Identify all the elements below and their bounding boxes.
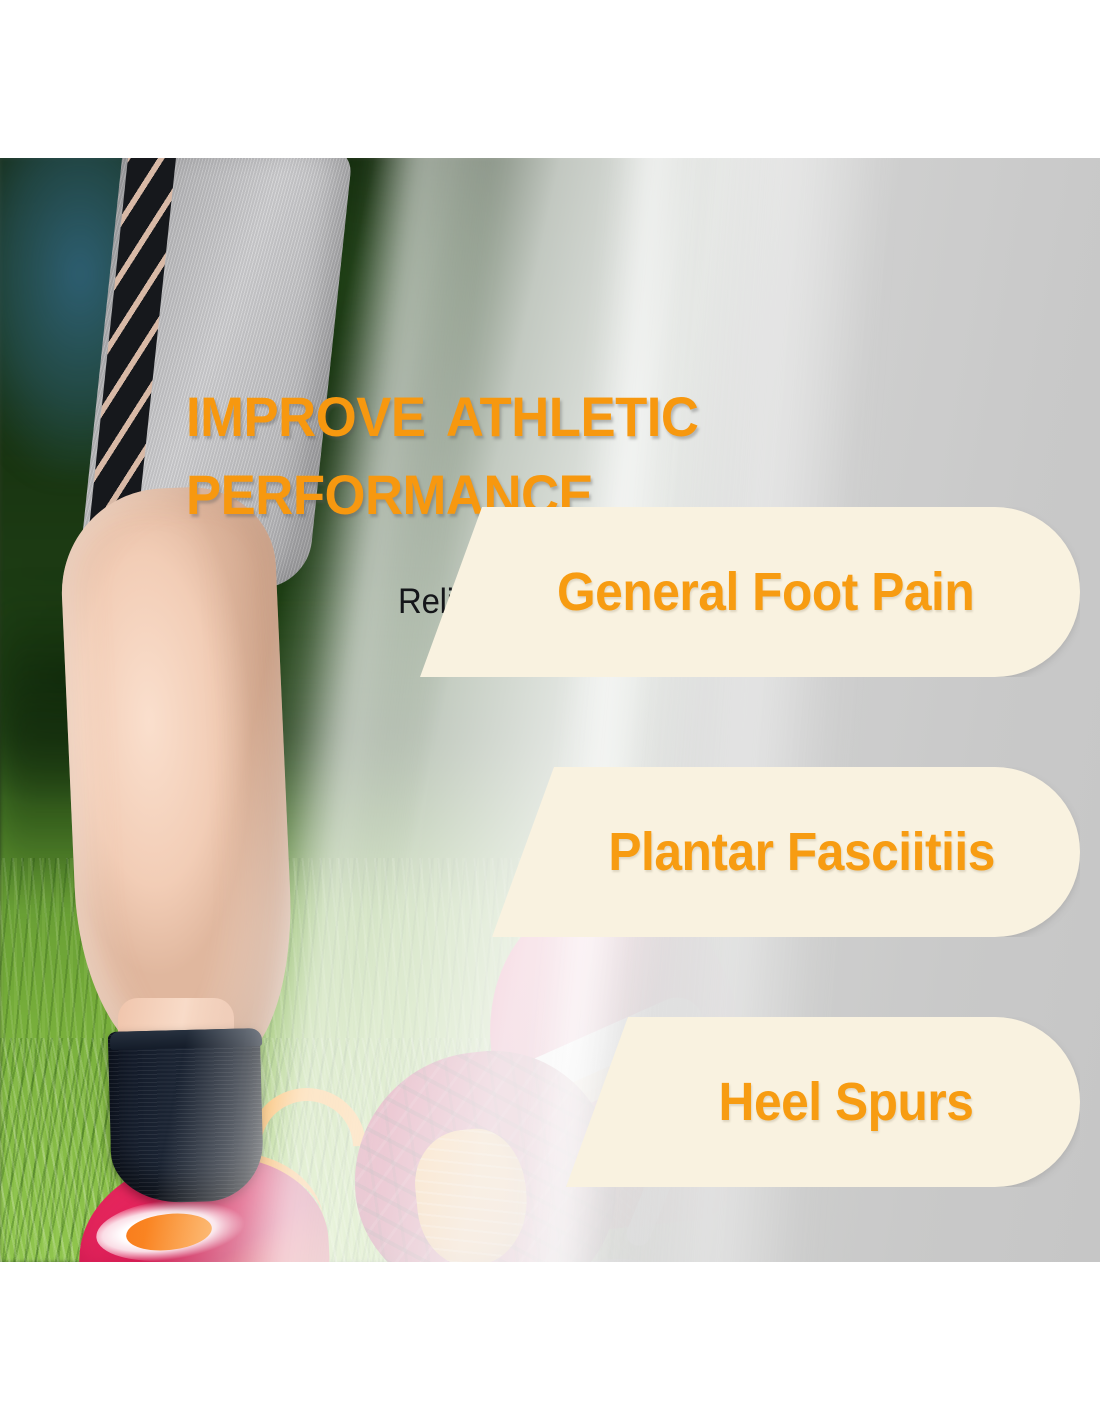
- benefit-pill-heel-spurs[interactable]: Heel Spurs: [566, 1017, 1080, 1187]
- benefit-pill-label: General Foot Pain: [446, 561, 1053, 623]
- benefit-pill-list: General Foot Pain Plantar Fasciitiis Hee…: [0, 158, 1100, 1262]
- benefit-pill-label: Plantar Fasciitiis: [516, 821, 1057, 883]
- benefit-pill-label: Heel Spurs: [587, 1071, 1060, 1133]
- hero-photo: Improve athletic performance Relieve pai…: [0, 158, 1100, 1262]
- benefit-pill-general-foot-pain[interactable]: General Foot Pain: [420, 507, 1080, 677]
- benefit-pill-plantar-fasciitis[interactable]: Plantar Fasciitiis: [492, 767, 1080, 937]
